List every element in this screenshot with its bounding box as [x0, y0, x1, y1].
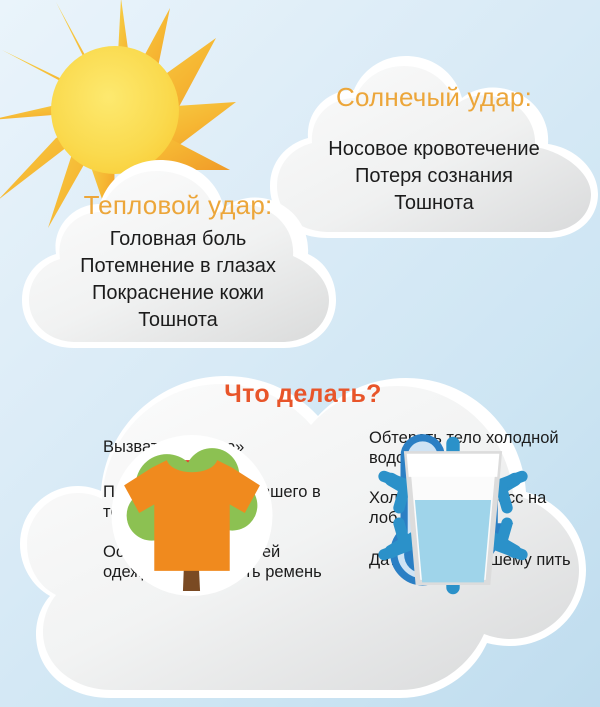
symptom-item: Потемнение в глазах: [18, 253, 338, 280]
heatstroke-symptom-list: Головная боль Потемнение в глазах Покрас…: [18, 226, 338, 334]
heatstroke-title: Тепловой удар:: [18, 190, 338, 221]
water-glass-icon: [328, 549, 362, 583]
infographic-canvas: Солнечый удар: Носовое кровотечение Поте…: [0, 0, 600, 707]
todo-left-column: Вызвать «скорую»: [62, 430, 322, 601]
list-item: Дать пострадавшему пить: [328, 548, 578, 583]
symptom-item: Покраснение кожи: [18, 280, 338, 307]
list-item: Освободить от лишней одежды, расслабить …: [62, 540, 322, 583]
sunstroke-title: Солнечый удар:: [268, 82, 600, 113]
todo-cloud: Что делать? Вызвать «скорую»: [10, 330, 596, 702]
todo-title: Что делать?: [10, 380, 596, 409]
tshirt-icon: [62, 549, 96, 583]
heatstroke-cloud: Тепловой удар: Головная боль Потемнение …: [18, 152, 338, 352]
symptom-item: Головная боль: [18, 226, 338, 253]
todo-right-column: Обтереть тело холодной водой: [328, 428, 578, 603]
